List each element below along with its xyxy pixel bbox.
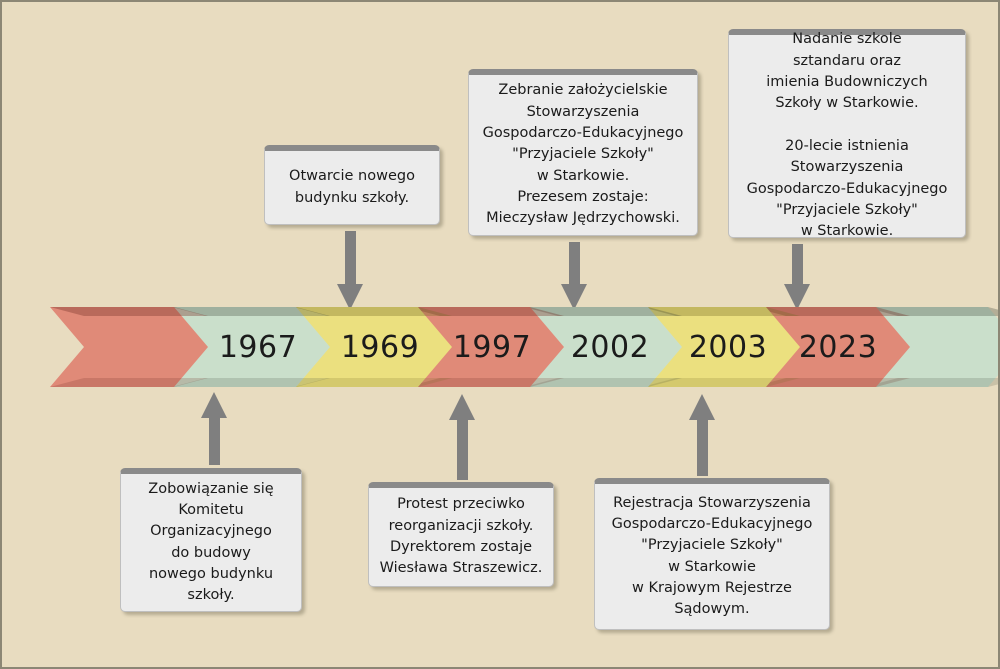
event-text: Zebranie założycielskie Stowarzyszenia G… bbox=[477, 80, 689, 229]
event-text: Nadanie szkole sztandaru oraz imienia Bu… bbox=[737, 29, 957, 242]
event-text: Otwarcie nowego budynku szkoły. bbox=[273, 166, 431, 209]
segment-year-label: 1997 bbox=[439, 330, 531, 365]
event-box-event-1967[interactable]: Zobowiązanie się Komitetu Organizacyjneg… bbox=[120, 468, 302, 612]
event-box-event-2023[interactable]: Nadanie szkole sztandaru oraz imienia Bu… bbox=[728, 29, 966, 238]
event-text: Rejestracja Stowarzyszenia Gospodarczo-E… bbox=[603, 493, 821, 621]
arrow-shaft bbox=[792, 244, 803, 286]
arrow-shaft bbox=[209, 416, 220, 465]
segment-year-label: 1967 bbox=[205, 330, 297, 365]
event-text: Zobowiązanie się Komitetu Organizacyjneg… bbox=[129, 479, 293, 607]
event-box-event-1997[interactable]: Zebranie założycielskie Stowarzyszenia G… bbox=[468, 69, 698, 236]
segment-year-label: 1969 bbox=[327, 330, 419, 365]
arrow-shaft bbox=[457, 418, 468, 480]
arrow-head-up-icon bbox=[449, 394, 475, 420]
timeline-segment-blank-0[interactable] bbox=[50, 307, 208, 387]
event-box-event-2003[interactable]: Rejestracja Stowarzyszenia Gospodarczo-E… bbox=[594, 478, 830, 630]
arrow-shaft bbox=[345, 231, 356, 286]
arrow-head-up-icon bbox=[201, 392, 227, 418]
event-box-event-1997-b[interactable]: Protest przeciwko reorganizacji szkoły. … bbox=[368, 482, 554, 587]
timeline-bar: 196719691997200220032023 bbox=[2, 307, 1000, 387]
event-text: Protest przeciwko reorganizacji szkoły. … bbox=[377, 494, 545, 579]
segment-shape bbox=[50, 307, 208, 387]
arrow-shaft bbox=[569, 242, 580, 286]
event-box-event-1969[interactable]: Otwarcie nowego budynku szkoły. bbox=[264, 145, 440, 225]
segment-year-label: 2003 bbox=[675, 330, 767, 365]
segment-year-label: 2002 bbox=[557, 330, 649, 365]
arrow-shaft bbox=[697, 418, 708, 476]
arrow-head-up-icon bbox=[689, 394, 715, 420]
timeline-diagram: Otwarcie nowego budynku szkoły.Zebranie … bbox=[0, 0, 1000, 669]
